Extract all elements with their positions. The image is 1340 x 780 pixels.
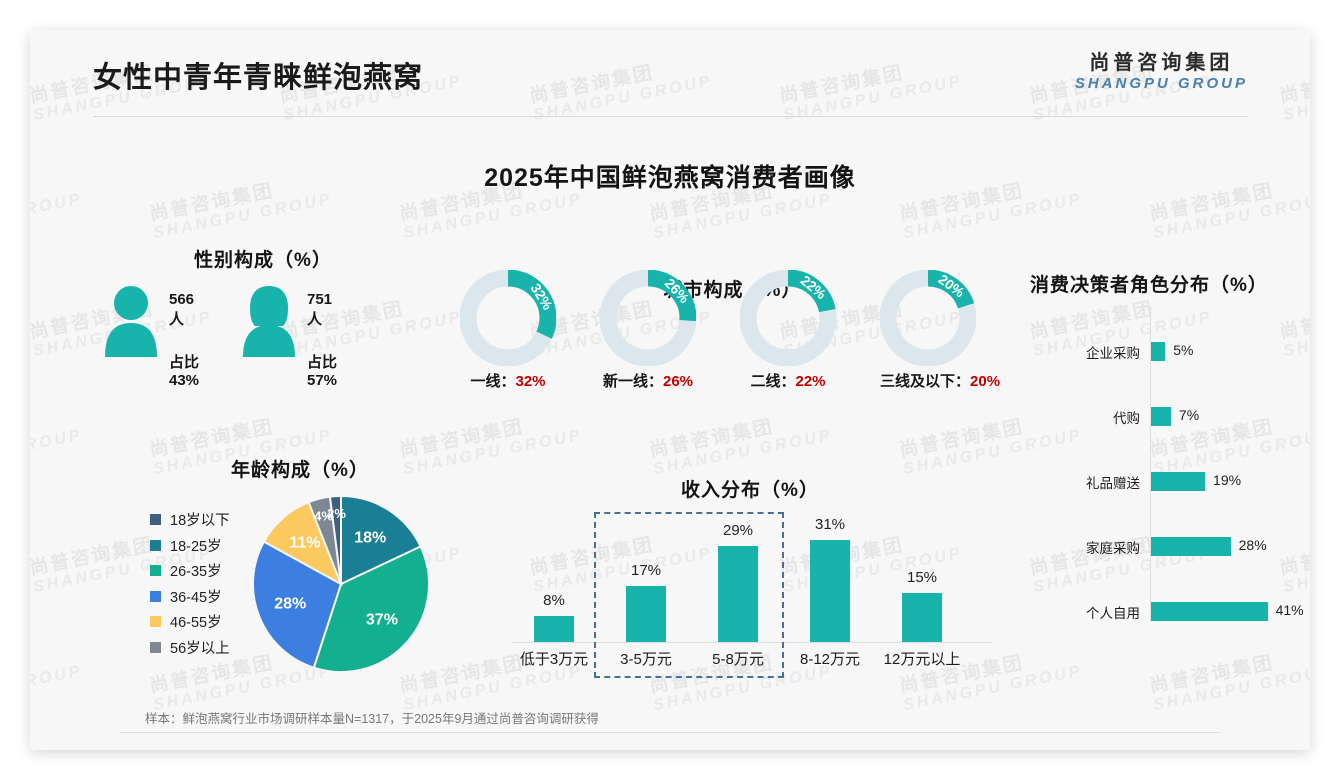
donut-svg: 20%	[880, 270, 976, 366]
footer-divider	[120, 732, 1220, 733]
donut-caption: 二线：22%	[740, 370, 836, 391]
legend-swatch-icon	[150, 565, 161, 576]
footer: ©2025.11 SHANGPU GROUP www.shangpu-china…	[30, 742, 1310, 750]
role-bar-礼品赠送: 礼品赠送19%	[1030, 468, 1310, 494]
role-bar-value: 7%	[1179, 407, 1199, 423]
logo-english-text: SHANGPU GROUP	[1075, 75, 1248, 93]
legend-item-18岁以下: 18岁以下	[150, 507, 230, 533]
legend-item-36-45岁: 36-45岁	[150, 584, 230, 610]
header: 女性中青年青睐鲜泡燕窝 尚普咨询集团 SHANGPU GROUP	[30, 30, 1310, 120]
legend-label: 46-55岁	[170, 611, 222, 632]
brand-logo: 尚普咨询集团 SHANGPU GROUP	[1075, 52, 1248, 93]
pie-label-18岁以下: 2%	[327, 506, 346, 521]
slide-card: 尚普咨询集团SHANGPU GROUP尚普咨询集团SHANGPU GROUP尚普…	[30, 30, 1310, 750]
decision-role-chart: 企业采购5%代购7%礼品赠送19%家庭采购28%个人自用41%	[1030, 300, 1310, 630]
legend-label: 18岁以下	[170, 509, 230, 530]
income-category-label: 8-12万元	[786, 648, 874, 669]
income-bar-rect	[902, 593, 942, 642]
role-bar-家庭采购: 家庭采购28%	[1030, 533, 1310, 559]
donut-caption-value: 26%	[663, 373, 693, 390]
donut-svg: 32%	[460, 270, 556, 366]
age-composition-chart: 18岁以下18-25岁26-35岁36-45岁46-55岁56岁以上 18%37…	[130, 485, 470, 685]
logo-chinese-text: 尚普咨询集团	[1075, 52, 1248, 75]
female-count: 751人	[307, 291, 337, 329]
role-bar-rect	[1151, 342, 1165, 361]
role-category-label: 代购	[1113, 407, 1140, 427]
donut-caption-value: 32%	[515, 373, 545, 390]
pie-svg: 18%37%28%11%4%2%	[250, 493, 432, 675]
legend-label: 56岁以上	[170, 637, 230, 658]
role-bar-个人自用: 个人自用41%	[1030, 598, 1310, 624]
donut-三线及以下: 20%三线及以下：20%	[880, 270, 976, 366]
donut-caption-text: 三线及以下：	[880, 373, 970, 390]
female-silhouette-icon	[241, 285, 297, 357]
legend-swatch-icon	[150, 591, 161, 602]
roles-section-title: 消费决策者角色分布（%）	[1030, 270, 1310, 297]
legend-item-46-55岁: 46-55岁	[150, 609, 230, 635]
role-bar-rect	[1151, 537, 1231, 556]
income-section-title: 收入分布（%）	[500, 475, 1000, 502]
donut-caption-text: 二线：	[750, 373, 795, 390]
role-category-label: 个人自用	[1086, 602, 1140, 622]
watermark-tile: 尚普咨询集团SHANGPU GROUP	[30, 643, 84, 715]
legend-label: 18-25岁	[170, 535, 222, 556]
role-bar-value: 41%	[1276, 602, 1304, 618]
role-bar-value: 5%	[1173, 342, 1193, 358]
watermark-tile: 尚普咨询集团SHANGPU GROUP	[30, 407, 84, 479]
donut-caption-value: 20%	[970, 373, 1000, 390]
donut-新一线: 26%新一线：26%	[600, 270, 696, 366]
income-highlight-box	[594, 512, 784, 678]
pie-label-46-55岁: 11%	[289, 535, 320, 552]
donut-svg: 26%	[600, 270, 696, 366]
legend-label: 26-35岁	[170, 560, 222, 581]
income-bar-value: 8%	[510, 592, 598, 609]
income-bar-value: 31%	[786, 516, 874, 533]
role-category-label: 家庭采购	[1086, 537, 1140, 557]
female-share: 占比57%	[307, 351, 337, 389]
role-bar-rect	[1151, 602, 1268, 621]
role-bar-企业采购: 企业采购5%	[1030, 338, 1310, 364]
legend-item-56岁以上: 56岁以上	[150, 635, 230, 661]
legend-swatch-icon	[150, 642, 161, 653]
income-bar-rect	[534, 616, 574, 642]
role-bar-value: 19%	[1213, 472, 1241, 488]
male-count: 566人	[169, 291, 199, 329]
role-category-label: 礼品赠送	[1086, 472, 1140, 492]
pie-label-36-45岁: 28%	[274, 596, 306, 613]
income-bar-12万元以上: 15%	[878, 569, 966, 642]
donut-caption: 一线：32%	[460, 370, 556, 391]
header-divider	[93, 116, 1248, 117]
male-share: 占比43%	[169, 351, 199, 389]
watermark-tile: 尚普咨询集团SHANGPU GROUP	[1148, 643, 1310, 715]
age-pie-legend: 18岁以下18-25岁26-35岁36-45岁46-55岁56岁以上	[150, 507, 230, 660]
watermark-tile: 尚普咨询集团SHANGPU GROUP	[648, 407, 834, 479]
donut-caption: 三线及以下：20%	[880, 370, 976, 391]
legend-label: 36-45岁	[170, 586, 222, 607]
income-category-label: 低于3万元	[510, 648, 598, 669]
role-bar-value: 28%	[1239, 537, 1267, 553]
donut-caption-text: 一线：	[470, 373, 515, 390]
donut-caption-value: 22%	[795, 373, 825, 390]
role-bar-rect	[1151, 407, 1171, 426]
role-bar-rect	[1151, 472, 1205, 491]
income-category-label: 12万元以上	[878, 648, 966, 669]
legend-swatch-icon	[150, 514, 161, 525]
legend-swatch-icon	[150, 540, 161, 551]
donut-svg: 22%	[740, 270, 836, 366]
role-category-label: 企业采购	[1086, 342, 1140, 362]
income-bar-低于3万元: 8%	[510, 592, 598, 642]
sample-note: 样本：鲜泡燕窝行业市场调研样本量N=1317，于2025年9月通过尚普咨询调研获…	[145, 708, 599, 727]
legend-item-18-25岁: 18-25岁	[150, 533, 230, 559]
donut-一线: 32%一线：32%	[460, 270, 556, 366]
pie-label-26-35岁: 37%	[366, 612, 398, 629]
donut-caption: 新一线：26%	[600, 370, 696, 391]
pie-label-18-25岁: 18%	[354, 529, 386, 546]
legend-item-26-35岁: 26-35岁	[150, 558, 230, 584]
legend-swatch-icon	[150, 616, 161, 627]
income-bar-value: 15%	[878, 569, 966, 586]
city-composition-chart: 32%一线：32%26%新一线：26%22%二线：22%20%三线及以下：20%	[460, 270, 1005, 410]
main-title: 2025年中国鲜泡燕窝消费者画像	[30, 158, 1310, 194]
page-title: 女性中青年青睐鲜泡燕窝	[93, 54, 423, 96]
role-bar-代购: 代购7%	[1030, 403, 1310, 429]
gender-composition-section: 566人 占比43% 751人 占比57%	[93, 245, 433, 395]
male-silhouette-icon	[103, 285, 159, 357]
donut-二线: 22%二线：22%	[740, 270, 836, 366]
donut-caption-text: 新一线：	[603, 373, 663, 390]
income-bar-8-12万元: 31%	[786, 516, 874, 642]
age-section-title: 年龄构成（%）	[130, 455, 470, 482]
age-pie-graphic: 18%37%28%11%4%2%	[250, 493, 432, 680]
income-distribution-chart: 8%低于3万元17%3-5万元29%5-8万元31%8-12万元15%12万元以…	[500, 500, 1000, 700]
income-bar-rect	[810, 540, 850, 642]
